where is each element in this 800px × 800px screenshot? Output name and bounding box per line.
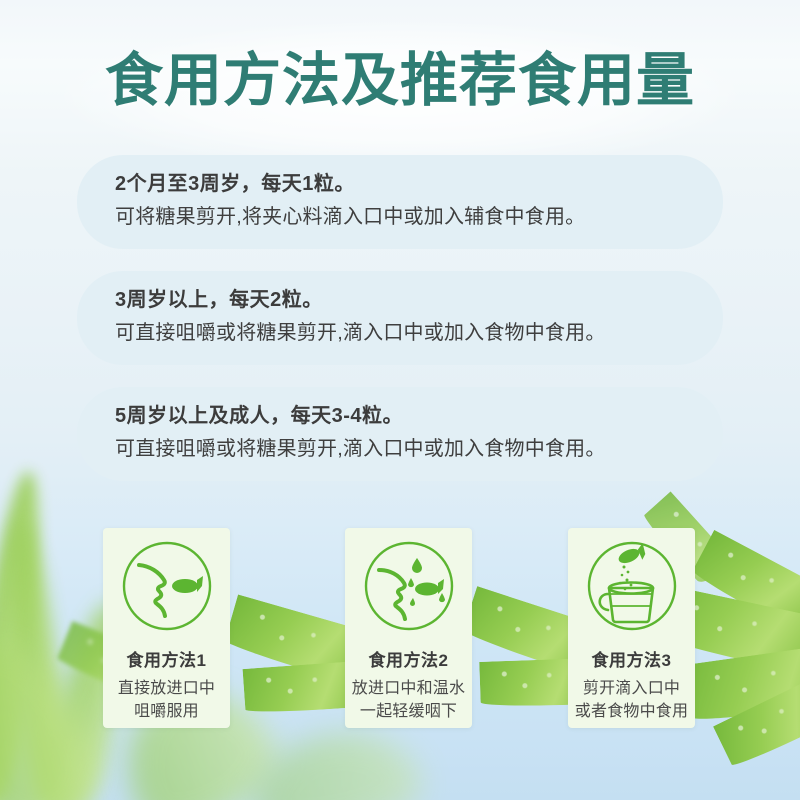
method-title: 食用方法3 bbox=[592, 646, 672, 671]
dosage-detail: 可直接咀嚼或将糖果剪开,滴入口中或加入食物中食用。 bbox=[115, 317, 693, 349]
dosage-heading: 2个月至3周岁，每天1粒。 bbox=[115, 169, 693, 199]
method-description: 剪开滴入口中 或者食物中食用 bbox=[575, 677, 688, 723]
face-swallow-water-icon bbox=[359, 536, 459, 636]
dosage-detail: 可将糖果剪开,将夹心料滴入口中或加入辅食中食用。 bbox=[115, 201, 693, 233]
dosage-list: 2个月至3周岁，每天1粒。 可将糖果剪开,将夹心料滴入口中或加入辅食中食用。 3… bbox=[77, 155, 723, 503]
method-card-list: 食用方法1 直接放进口中 咀嚼服用 食用方法2 放进口中和温水 一起轻缓咽下 bbox=[0, 528, 800, 730]
face-chew-capsule-icon bbox=[117, 536, 217, 636]
method-desc-line-1: 直接放进口中 bbox=[118, 677, 215, 700]
method-title: 食用方法1 bbox=[127, 646, 207, 671]
dosage-heading: 5周岁以上及成人，每天3-4粒。 bbox=[115, 401, 693, 431]
dosage-detail: 可直接咀嚼或将糖果剪开,滴入口中或加入食物中食用。 bbox=[115, 433, 693, 465]
dosage-heading: 3周岁以上，每天2粒。 bbox=[115, 285, 693, 315]
method-desc-line-1: 放进口中和温水 bbox=[352, 677, 465, 700]
method-desc-line-2: 咀嚼服用 bbox=[118, 700, 215, 723]
method-description: 直接放进口中 咀嚼服用 bbox=[118, 677, 215, 723]
method-desc-line-1: 剪开滴入口中 bbox=[575, 677, 688, 700]
dosage-item-1: 2个月至3周岁，每天1粒。 可将糖果剪开,将夹心料滴入口中或加入辅食中食用。 bbox=[77, 155, 723, 249]
method-desc-line-2: 一起轻缓咽下 bbox=[352, 700, 465, 723]
grass-blade bbox=[242, 718, 428, 800]
method-card-2: 食用方法2 放进口中和温水 一起轻缓咽下 bbox=[345, 528, 472, 728]
dosage-item-3: 5周岁以上及成人，每天3-4粒。 可直接咀嚼或将糖果剪开,滴入口中或加入食物中食… bbox=[77, 387, 723, 481]
method-description: 放进口中和温水 一起轻缓咽下 bbox=[352, 677, 465, 723]
method-card-3: 食用方法3 剪开滴入口中 或者食物中食用 bbox=[568, 528, 695, 728]
dosage-item-2: 3周岁以上，每天2粒。 可直接咀嚼或将糖果剪开,滴入口中或加入食物中食用。 bbox=[77, 271, 723, 365]
method-title: 食用方法2 bbox=[369, 646, 449, 671]
promo-page: 食用方法及推荐食用量 2个月至3周岁，每天1粒。 可将糖果剪开,将夹心料滴入口中… bbox=[0, 0, 800, 800]
method-card-1: 食用方法1 直接放进口中 咀嚼服用 bbox=[103, 528, 230, 728]
page-title: 食用方法及推荐食用量 bbox=[0, 46, 800, 116]
cup-pour-capsule-icon bbox=[582, 536, 682, 636]
method-desc-line-2: 或者食物中食用 bbox=[575, 700, 688, 723]
